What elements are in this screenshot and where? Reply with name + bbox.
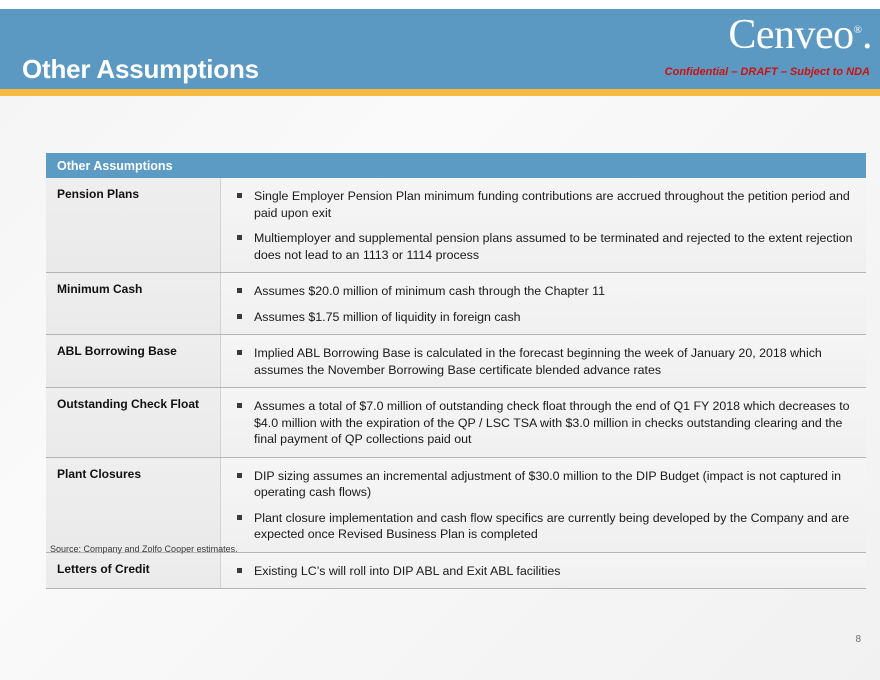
row-label: Pension Plans xyxy=(46,178,221,272)
row-content: Assumes $20.0 million of minimum cash th… xyxy=(221,273,866,334)
row-content: Single Employer Pension Plan minimum fun… xyxy=(221,178,866,272)
registered-trademark-icon: ® xyxy=(854,24,862,36)
table-row: Minimum Cash Assumes $20.0 million of mi… xyxy=(46,273,866,335)
bullet-square-icon xyxy=(237,568,242,573)
row-label: Plant Closures xyxy=(46,458,221,552)
table-row: ABL Borrowing Base Implied ABL Borrowing… xyxy=(46,335,866,388)
logo-period: . xyxy=(862,12,872,58)
table-row: Outstanding Check Float Assumes a total … xyxy=(46,388,866,458)
page-title: Other Assumptions xyxy=(22,56,259,82)
row-content: Assumes a total of $7.0 million of outst… xyxy=(221,388,866,457)
row-content: DIP sizing assumes an incremental adjust… xyxy=(221,458,866,552)
list-item: Assumes $20.0 million of minimum cash th… xyxy=(235,283,856,300)
list-item-text: Assumes $20.0 million of minimum cash th… xyxy=(254,284,605,298)
row-label: Letters of Credit xyxy=(46,553,221,589)
list-item: Multiemployer and supplemental pension p… xyxy=(235,230,856,263)
list-item-text: DIP sizing assumes an incremental adjust… xyxy=(254,469,841,500)
source-note: Source: Company and Zolfo Cooper estimat… xyxy=(50,544,238,554)
list-item: Single Employer Pension Plan minimum fun… xyxy=(235,188,856,221)
list-item-text: Single Employer Pension Plan minimum fun… xyxy=(254,189,850,220)
list-item-text: Plant closure implementation and cash fl… xyxy=(254,511,849,542)
row-label: Outstanding Check Float xyxy=(46,388,221,457)
logo-wordmark: Cenveo xyxy=(728,12,853,58)
list-item-text: Existing LC’s will roll into DIP ABL and… xyxy=(254,564,560,578)
assumptions-table: Other Assumptions Pension Plans Single E… xyxy=(46,153,866,589)
bullet-square-icon xyxy=(237,350,242,355)
row-content: Existing LC’s will roll into DIP ABL and… xyxy=(221,553,866,589)
bullet-square-icon xyxy=(237,473,242,478)
table-row: Plant Closures DIP sizing assumes an inc… xyxy=(46,458,866,553)
list-item-text: Implied ABL Borrowing Base is calculated… xyxy=(254,346,822,377)
bullet-square-icon xyxy=(237,235,242,240)
bullet-square-icon xyxy=(237,403,242,408)
list-item: Assumes $1.75 million of liquidity in fo… xyxy=(235,309,856,326)
page-number: 8 xyxy=(855,634,861,645)
list-item: Assumes a total of $7.0 million of outst… xyxy=(235,398,856,448)
header-gold-rule xyxy=(0,89,880,96)
row-label: Minimum Cash xyxy=(46,273,221,334)
bullet-square-icon xyxy=(237,193,242,198)
list-item: DIP sizing assumes an incremental adjust… xyxy=(235,468,856,501)
cenveo-logo: Cenveo®. xyxy=(728,14,872,56)
row-content: Implied ABL Borrowing Base is calculated… xyxy=(221,335,866,387)
list-item-text: Assumes $1.75 million of liquidity in fo… xyxy=(254,310,521,324)
confidentiality-notice: Confidential – DRAFT – Subject to NDA xyxy=(665,66,870,78)
top-white-strip xyxy=(0,0,880,9)
list-item-text: Multiemployer and supplemental pension p… xyxy=(254,231,853,262)
table-row: Letters of Credit Existing LC’s will rol… xyxy=(46,553,866,590)
list-item-text: Assumes a total of $7.0 million of outst… xyxy=(254,399,850,446)
list-item: Implied ABL Borrowing Base is calculated… xyxy=(235,345,856,378)
table-row: Pension Plans Single Employer Pension Pl… xyxy=(46,178,866,273)
bullet-square-icon xyxy=(237,314,242,319)
row-label: ABL Borrowing Base xyxy=(46,335,221,387)
list-item: Existing LC’s will roll into DIP ABL and… xyxy=(235,563,856,580)
slide: Other Assumptions Cenveo®. Confidential … xyxy=(0,0,880,680)
table-header: Other Assumptions xyxy=(46,153,866,178)
bullet-square-icon xyxy=(237,515,242,520)
bullet-square-icon xyxy=(237,288,242,293)
list-item: Plant closure implementation and cash fl… xyxy=(235,510,856,543)
